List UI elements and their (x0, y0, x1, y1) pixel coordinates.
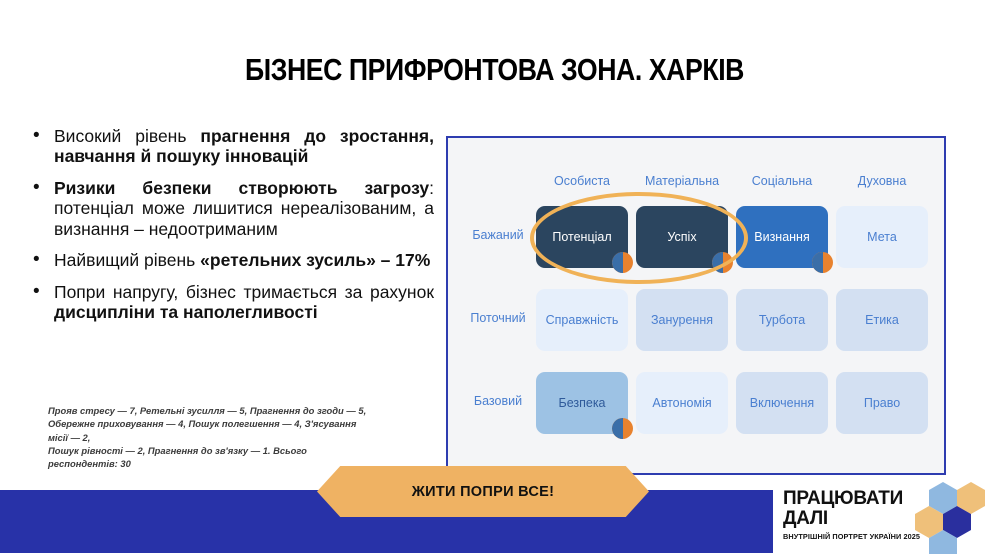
matrix-row-header-3: Базовий (458, 394, 538, 408)
matrix-row-header-1: Бажаний (458, 228, 538, 242)
matrix-cell-label: Безпека (558, 396, 605, 410)
matrix-cell-r2-c4[interactable]: Етика (836, 289, 928, 351)
matrix-cell-label: Турбота (759, 313, 805, 327)
matrix-col-header-4: Духовна (836, 174, 928, 188)
bullet-security-risks: Ризики безпеки створюють загрозу: потенц… (28, 178, 434, 239)
matrix-cell-label: Мета (867, 230, 897, 244)
needs-matrix-panel: ОсобистаМатеріальнаСоціальнаДуховнаБажан… (446, 136, 946, 475)
pie-chart-badge-icon (612, 252, 633, 273)
matrix-cell-r1-c2[interactable]: Успіх (636, 206, 728, 268)
bullet-growth: Високий рівень прагнення до зростання, н… (28, 126, 434, 167)
matrix-cell-label: Потенціал (552, 230, 611, 244)
matrix-cell-r1-c3[interactable]: Визнання (736, 206, 828, 268)
matrix-col-header-3: Соціальна (736, 174, 828, 188)
hexagon-cluster-icon (909, 482, 989, 554)
matrix-cell-r1-c4[interactable]: Мета (836, 206, 928, 268)
matrix-cell-r3-c2[interactable]: Автономія (636, 372, 728, 434)
bullet-diligent-efforts-run-1: «ретельних зусиль» – 17% (200, 250, 430, 270)
slogan-banner: ЖИТИ ПОПРИ ВСЕ! (317, 466, 649, 517)
pie-chart-badge-icon (812, 252, 833, 273)
matrix-cell-label: Справжність (546, 313, 619, 327)
matrix-cell-label: Етика (865, 313, 899, 327)
footnote-block: Прояв стресу — 7, Ретельні зусилля — 5, … (48, 404, 378, 471)
matrix-cell-label: Визнання (754, 230, 809, 244)
matrix-cell-r2-c2[interactable]: Занурення (636, 289, 728, 351)
bullet-diligent-efforts: Найвищий рівень «ретельних зусиль» – 17% (28, 250, 434, 270)
logo-subtitle: ВНУТРІШНІЙ ПОРТРЕТ УКРАЇНИ 2025 (783, 532, 920, 541)
matrix-cell-r1-c1[interactable]: Потенціал (536, 206, 628, 268)
matrix-grid: ОсобистаМатеріальнаСоціальнаДуховнаБажан… (448, 138, 944, 473)
slogan-text: ЖИТИ ПОПРИ ВСЕ! (412, 484, 554, 500)
bullet-discipline-run-1: дисципліни та наполегливості (54, 302, 318, 322)
matrix-col-header-2: Матеріальна (636, 174, 728, 188)
logo-line-1: ПРАЦЮВАТИ (783, 489, 903, 508)
matrix-cell-r3-c3[interactable]: Включення (736, 372, 828, 434)
slide-root: БІЗНЕС ПРИФРОНТОВА ЗОНА. ХАРКІВ Високий … (0, 0, 989, 553)
matrix-col-header-1: Особиста (536, 174, 628, 188)
bullet-security-risks-run-0: Ризики безпеки створюють загрозу (54, 178, 429, 198)
bullet-discipline: Попри напругу, бізнес тримається за раху… (28, 282, 434, 323)
pie-chart-badge-icon (612, 418, 633, 439)
matrix-row-header-2: Поточний (458, 311, 538, 325)
matrix-cell-label: Автономія (652, 396, 711, 410)
footnote-line-1: Прояв стресу — 7, Ретельні зусилля — 5, … (48, 404, 378, 444)
matrix-cell-r2-c3[interactable]: Турбота (736, 289, 828, 351)
matrix-cell-r3-c4[interactable]: Право (836, 372, 928, 434)
bullet-growth-run-0: Високий рівень (54, 126, 200, 146)
matrix-cell-r2-c1[interactable]: Справжність (536, 289, 628, 351)
footnote-line-2: Пошук рівності — 2, Прагнення до зв'язку… (48, 444, 378, 471)
matrix-cell-label: Право (864, 396, 900, 410)
brand-logo: ПРАЦЮВАТИ ДАЛІ ВНУТРІШНІЙ ПОРТРЕТ УКРАЇН… (783, 487, 989, 553)
matrix-cell-label: Успіх (667, 230, 696, 244)
bullet-discipline-run-0: Попри напругу, бізнес тримається за раху… (54, 282, 434, 302)
page-title: БІЗНЕС ПРИФРОНТОВА ЗОНА. ХАРКІВ (69, 52, 920, 88)
matrix-cell-label: Включення (750, 396, 814, 410)
bullet-list: Високий рівень прагнення до зростання, н… (28, 126, 434, 334)
logo-line-2: ДАЛІ (783, 509, 828, 528)
matrix-cell-label: Занурення (651, 313, 713, 327)
bullet-diligent-efforts-run-0: Найвищий рівень (54, 250, 200, 270)
matrix-cell-r3-c1[interactable]: Безпека (536, 372, 628, 434)
pie-chart-badge-icon (712, 252, 733, 273)
